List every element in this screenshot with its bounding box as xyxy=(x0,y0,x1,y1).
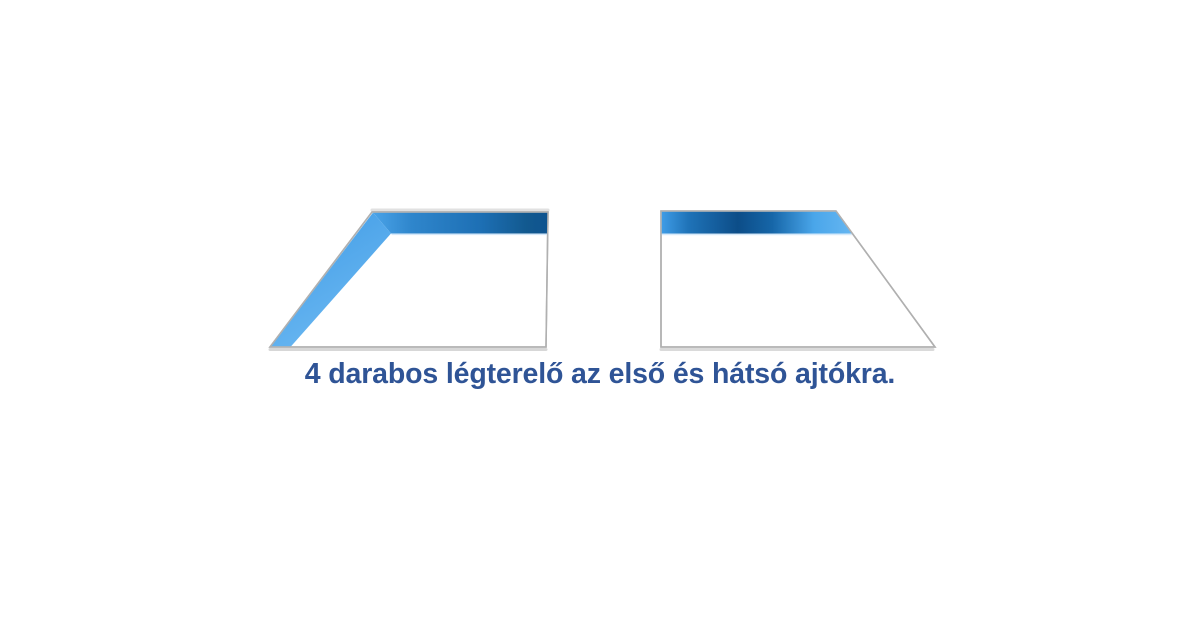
deflector-svg xyxy=(0,0,1200,630)
deflector-diagram xyxy=(0,0,1200,630)
rear-door-deflector xyxy=(661,211,935,350)
illustration-canvas: 4 darabos légterelő az első és hátsó ajt… xyxy=(0,0,1200,630)
front-deflector-top-band xyxy=(373,213,548,234)
caption-text: 4 darabos légterelő az első és hátsó ajt… xyxy=(0,358,1200,391)
front-door-deflector xyxy=(270,210,548,350)
rear-deflector-top-band xyxy=(662,212,853,234)
